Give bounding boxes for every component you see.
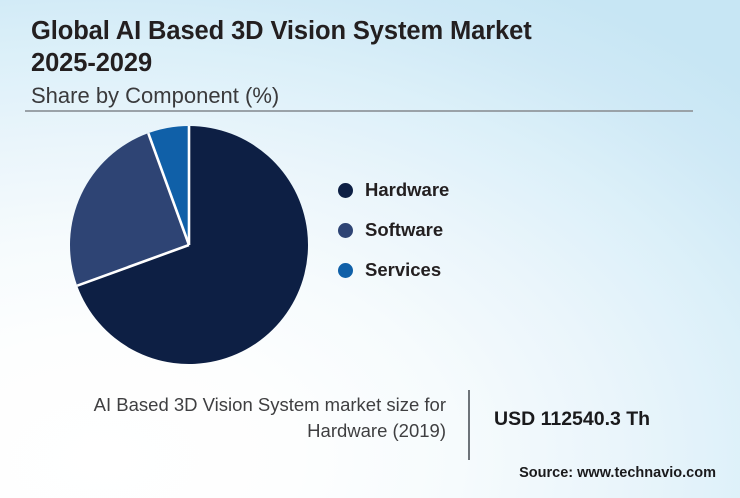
legend-swatch-hardware <box>338 183 353 198</box>
source-attribution: Source: www.technavio.com <box>519 465 716 481</box>
footer-stat-block: AI Based 3D Vision System market size fo… <box>31 392 693 460</box>
stat-divider <box>468 390 470 460</box>
stat-value: USD 112540.3 Th <box>494 392 650 431</box>
chart-canvas: Global AI Based 3D Vision System Market … <box>0 0 740 498</box>
stat-caption: AI Based 3D Vision System market size fo… <box>31 392 468 445</box>
legend-item-hardware[interactable]: Hardware <box>338 170 449 210</box>
legend-swatch-software <box>338 223 353 238</box>
legend-item-software[interactable]: Software <box>338 210 449 250</box>
legend-label-software: Software <box>365 219 443 241</box>
legend-label-services: Services <box>365 259 441 281</box>
legend-item-services[interactable]: Services <box>338 250 449 290</box>
page-title: Global AI Based 3D Vision System Market … <box>31 15 699 80</box>
legend-swatch-services <box>338 263 353 278</box>
legend-label-hardware: Hardware <box>365 179 449 201</box>
chart-subtitle: Share by Component (%) <box>31 83 699 109</box>
pie-chart <box>66 123 312 369</box>
chart-legend: Hardware Software Services <box>338 170 449 290</box>
pie-chart-svg <box>66 123 312 369</box>
chart-header: Global AI Based 3D Vision System Market … <box>31 15 699 109</box>
header-divider <box>25 110 693 112</box>
